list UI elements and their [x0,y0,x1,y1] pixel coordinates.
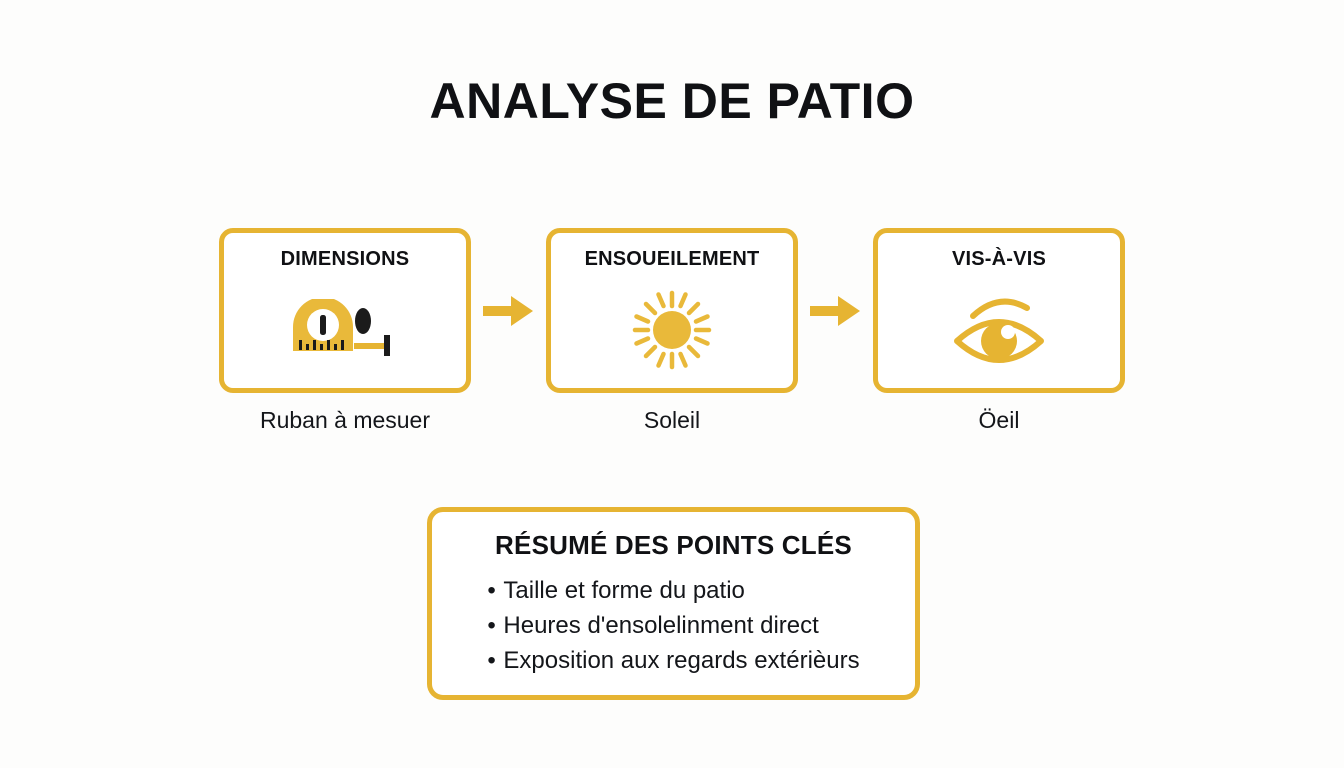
list-item: •Heures d'ensolelinment direct [487,608,859,643]
summary-box: RÉSUMÉ DES POINTS CLÉS •Taille et forme … [427,507,920,700]
step-card-dimensions[interactable]: DIMENSIONS [219,228,471,393]
tape-measure-icon [224,271,466,388]
step-caption: Soleil [644,407,700,434]
step-card-vis-a-vis[interactable]: VIS-À-VIS [873,228,1125,393]
step-title: VIS-À-VIS [952,248,1046,271]
list-item: •Exposition aux regards extérièurs [487,643,859,678]
list-item-text: Taille et forme du patio [503,577,744,604]
summary-bullet-list: •Taille et forme du patio •Heures d'enso… [487,573,859,678]
bullet-glyph: • [487,643,503,678]
connector-arrow-1 [472,228,546,393]
step-ensoleillement: ENSOUEILEMENT [546,228,798,434]
list-item-text: Heures d'ensolelinment direct [503,612,818,639]
step-caption: Öeil [979,407,1020,434]
bullet-glyph: • [487,573,503,608]
step-card-ensoleillement[interactable]: ENSOUEILEMENT [546,228,798,393]
step-caption: Ruban à mesuer [260,407,430,434]
step-title: ENSOUEILEMENT [585,248,760,271]
connector-arrow-2 [799,228,873,393]
arrow-right-icon [483,294,535,328]
step-title: DIMENSIONS [281,248,410,271]
step-vis-a-vis: VIS-À-VIS Öeil [873,228,1125,434]
bullet-glyph: • [487,608,503,643]
step-dimensions: DIMENSIONS [219,228,471,434]
sun-icon [551,271,793,388]
process-steps-row: DIMENSIONS [219,228,1125,440]
eye-icon [878,271,1120,388]
arrow-right-icon [810,294,862,328]
list-item-text: Exposition aux regards extérièurs [503,647,859,674]
summary-title: RÉSUMÉ DES POINTS CLÉS [495,530,852,561]
page-title: ANALYSE DE PATIO [0,72,1344,130]
list-item: •Taille et forme du patio [487,573,859,608]
